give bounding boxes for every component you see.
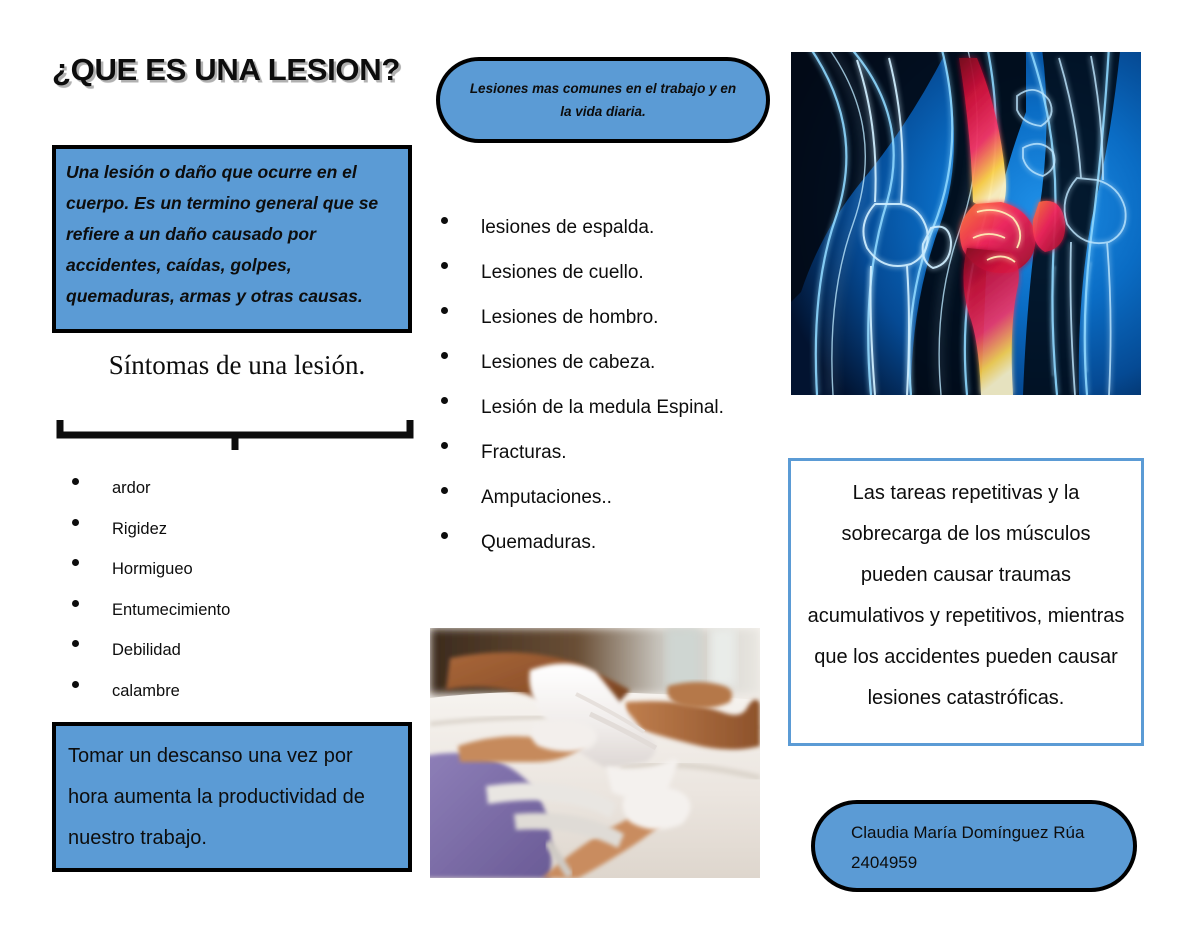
list-item: Lesiones de hombro. [427, 295, 747, 340]
list-item: lesiones de espalda. [427, 205, 747, 250]
common-injuries-text: Lesiones mas comunes en el trabajo y en … [466, 77, 740, 123]
list-item: Lesión de la medula Espinal. [427, 385, 747, 430]
symptoms-heading: Síntomas de una lesión. [52, 350, 422, 381]
list-item: calambre [58, 671, 388, 712]
list-item: Lesiones de cabeza. [427, 340, 747, 385]
rest-advice-text: Tomar un descanso una vez por hora aumen… [68, 736, 396, 859]
knee-xray-illustration [791, 52, 1141, 395]
hospital-leg-bandage-photo [430, 628, 760, 878]
bracket-divider-icon [56, 418, 414, 452]
repetitive-tasks-box: Las tareas repetitivas y la sobrecarga d… [788, 458, 1144, 746]
list-item: Quemaduras. [427, 520, 747, 565]
list-item: Debilidad [58, 630, 388, 671]
author-name: Claudia María Domínguez Rúa [833, 818, 1084, 848]
author-id: 2404959 [833, 848, 917, 878]
list-item: Amputaciones.. [427, 475, 747, 520]
injuries-list: lesiones de espalda. Lesiones de cuello.… [427, 205, 747, 565]
author-credit-bubble: Claudia María Domínguez Rúa 2404959 [811, 800, 1137, 892]
common-injuries-callout: Lesiones mas comunes en el trabajo y en … [436, 57, 770, 143]
definition-text: Una lesión o daño que ocurre en el cuerp… [66, 157, 398, 312]
definition-callout-box: Una lesión o daño que ocurre en el cuerp… [52, 145, 412, 333]
list-item: Lesiones de cuello. [427, 250, 747, 295]
list-item: Hormigueo [58, 549, 388, 590]
list-item: ardor [58, 468, 388, 509]
list-item: Entumecimiento [58, 590, 388, 631]
symptoms-list: ardor Rigidez Hormigueo Entumecimiento D… [58, 468, 388, 711]
brochure-page: ¿QUE ES UNA LESION? Una lesión o daño qu… [0, 0, 1200, 927]
rest-advice-box: Tomar un descanso una vez por hora aumen… [52, 722, 412, 872]
list-item: Rigidez [58, 509, 388, 550]
repetitive-tasks-text: Las tareas repetitivas y la sobrecarga d… [807, 473, 1125, 719]
page-title: ¿QUE ES UNA LESION? [52, 52, 432, 88]
list-item: Fracturas. [427, 430, 747, 475]
